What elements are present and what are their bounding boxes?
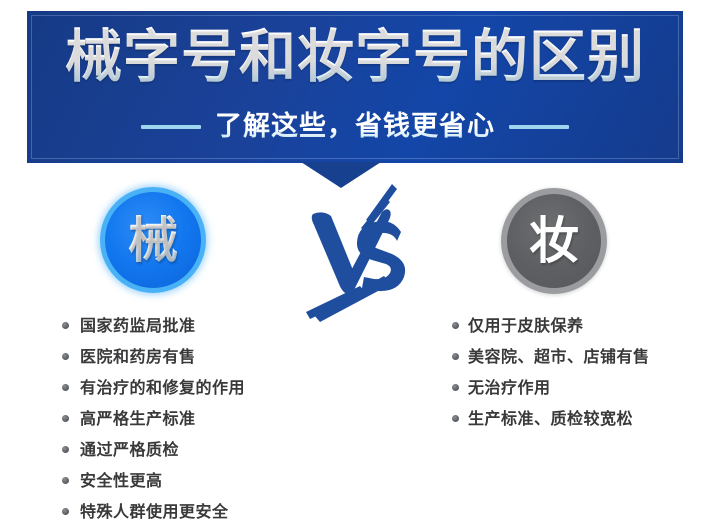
infographic-page: 械字号和妆字号的区别 了解这些，省钱更省心 械 <box>0 0 709 523</box>
page-title: 械字号和妆字号的区别 <box>27 25 683 89</box>
bullet-icon <box>62 353 69 360</box>
feature-list-medical-device: 国家药监局批准 医院和药房有售 有治疗的和修复的作用 高严格生产标准 通过严格质… <box>62 310 322 523</box>
list-item: 生产标准、质检较宽松 <box>452 403 702 434</box>
subtitle-rule-right-icon <box>509 125 569 129</box>
list-item: 高严格生产标准 <box>62 403 322 434</box>
versus-icon <box>300 176 418 328</box>
bullet-icon <box>62 384 69 391</box>
list-item: 无治疗作用 <box>452 372 702 403</box>
bullet-icon <box>62 446 69 453</box>
bullet-icon <box>62 415 69 422</box>
list-item-label: 医院和药房有售 <box>80 347 196 367</box>
page-subtitle: 了解这些，省钱更省心 <box>215 111 495 143</box>
list-item-label: 无治疗作用 <box>468 378 551 398</box>
feature-list-cosmetic: 仅用于皮肤保养 美容院、超市、店铺有售 无治疗作用 生产标准、质检较宽松 <box>452 310 702 434</box>
list-item: 美容院、超市、店铺有售 <box>452 341 702 372</box>
badge-cosmetic-label: 妆 <box>529 216 579 266</box>
badge-cosmetic: 妆 <box>501 188 607 294</box>
list-item-label: 美容院、超市、店铺有售 <box>468 347 650 367</box>
badge-medical-device: 械 <box>100 187 206 293</box>
bullet-icon <box>62 322 69 329</box>
list-item-label: 高严格生产标准 <box>80 409 196 429</box>
list-item: 安全性更高 <box>62 465 322 496</box>
list-item: 医院和药房有售 <box>62 341 322 372</box>
subtitle-row: 了解这些，省钱更省心 <box>27 111 683 143</box>
list-item: 有治疗的和修复的作用 <box>62 372 322 403</box>
list-item-label: 生产标准、质检较宽松 <box>468 409 633 429</box>
bullet-icon <box>62 508 69 515</box>
list-item-label: 安全性更高 <box>80 471 163 491</box>
subtitle-rule-left-icon <box>141 125 201 129</box>
list-item: 特殊人群使用更安全 <box>62 496 322 523</box>
list-item-label: 有治疗的和修复的作用 <box>80 378 245 398</box>
list-item-label: 仅用于皮肤保养 <box>468 316 584 336</box>
header-banner: 械字号和妆字号的区别 了解这些，省钱更省心 <box>27 11 683 163</box>
bullet-icon <box>452 415 459 422</box>
badge-medical-device-label: 械 <box>128 215 178 265</box>
list-item: 仅用于皮肤保养 <box>452 310 702 341</box>
list-item: 国家药监局批准 <box>62 310 322 341</box>
bullet-icon <box>452 322 459 329</box>
bullet-icon <box>62 477 69 484</box>
bullet-icon <box>452 353 459 360</box>
list-item-label: 特殊人群使用更安全 <box>80 502 229 522</box>
bullet-icon <box>452 384 459 391</box>
list-item-label: 通过严格质检 <box>80 440 179 460</box>
list-item-label: 国家药监局批准 <box>80 316 196 336</box>
list-item: 通过严格质检 <box>62 434 322 465</box>
